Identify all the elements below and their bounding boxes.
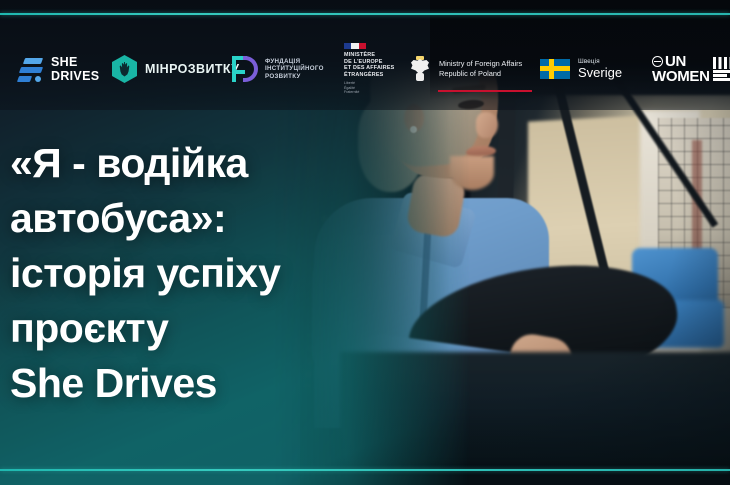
poland-mfa-wordmark: Ministry of Foreign Affairs Republic of …: [439, 59, 522, 78]
poland-line2: Republic of Poland: [439, 69, 522, 79]
un-women-bars-icon: [713, 57, 730, 81]
she-drives-line1: SHE: [51, 56, 99, 69]
headline-line-2: автобуса»:: [10, 191, 370, 246]
sweden-wordmark: Швеція Sverige: [578, 58, 622, 80]
headline: «Я - водійка автобуса»: історія успіху п…: [10, 136, 370, 411]
france-line2: DE L'EUROPE: [344, 59, 394, 66]
logo-poland-mfa: Ministry of Foreign Affairs Republic of …: [408, 56, 522, 82]
minrozvytku-label: МІНРОЗВИТКУ: [145, 62, 239, 76]
france-motto-3: Fraternité: [344, 90, 394, 95]
sweden-line2: Sverige: [578, 66, 622, 80]
accent-line-top: [0, 13, 730, 15]
france-meae-wordmark: MINISTÈRE DE L'EUROPE ET DES AFFAIRES ÉT…: [344, 52, 394, 78]
logo-france-meae: MINISTÈRE DE L'EUROPE ET DES AFFAIRES ÉT…: [344, 43, 394, 95]
headline-line-1: «Я - водійка: [10, 136, 370, 191]
france-line1: MINISTÈRE: [344, 52, 394, 59]
headline-line-4: проєкту: [10, 301, 370, 356]
france-line4: ÉTRANGÈRES: [344, 72, 394, 79]
ukraine-trident-hexagon-icon: [112, 55, 137, 83]
logo-sweden: Швеція Sverige: [540, 58, 622, 80]
un-women-wordmark: UN WOMEN: [652, 54, 710, 84]
france-flag-icon: [344, 43, 366, 49]
logo-she-drives: SHE DRIVES: [18, 56, 99, 83]
she-drives-bars-icon: [18, 56, 44, 82]
polish-eagle-icon: [408, 56, 432, 82]
she-drives-promo-banner: SHE DRIVES МІНРОЗВИТКУ ФУНДАЦІЯ ІНСТИТУЦ…: [0, 0, 730, 485]
logo-un-women: UN WOMEN: [652, 54, 730, 84]
sweden-flag-icon: [540, 59, 570, 79]
she-drives-wordmark: SHE DRIVES: [51, 56, 99, 83]
poland-red-rule: [438, 90, 532, 92]
un-line2: WOMEN: [652, 69, 710, 84]
accent-line-bottom: [0, 469, 730, 471]
headline-line-5: She Drives: [10, 356, 370, 411]
partner-logo-bar: SHE DRIVES МІНРОЗВИТКУ ФУНДАЦІЯ ІНСТИТУЦ…: [0, 44, 730, 94]
fir-line3: РОЗВИТКУ: [265, 73, 324, 81]
france-meae-block: MINISTÈRE DE L'EUROPE ET DES AFFAIRES ÉT…: [344, 43, 394, 95]
logo-fundacia-institutsiynogo-rozvytku: ФУНДАЦІЯ ІНСТИТУЦІЙНОГО РОЗВИТКУ: [232, 56, 324, 82]
she-drives-line2: DRIVES: [51, 70, 99, 83]
poland-line1: Ministry of Foreign Affairs: [439, 59, 522, 69]
un-line1: UN: [665, 54, 686, 69]
fir-wordmark: ФУНДАЦІЯ ІНСТИТУЦІЙНОГО РОЗВИТКУ: [265, 58, 324, 81]
france-motto: Liberté Égalité Fraternité: [344, 81, 394, 95]
france-line3: ET DES AFFAIRES: [344, 65, 394, 72]
fir-line2: ІНСТИТУЦІЙНОГО: [265, 65, 324, 73]
un-emblem-icon: [652, 56, 663, 67]
headline-line-3: історія успіху: [10, 246, 370, 301]
fir-monogram-icon: [232, 56, 258, 82]
logo-minrozvytku: МІНРОЗВИТКУ: [112, 55, 239, 83]
sweden-line1: Швеція: [578, 58, 622, 65]
